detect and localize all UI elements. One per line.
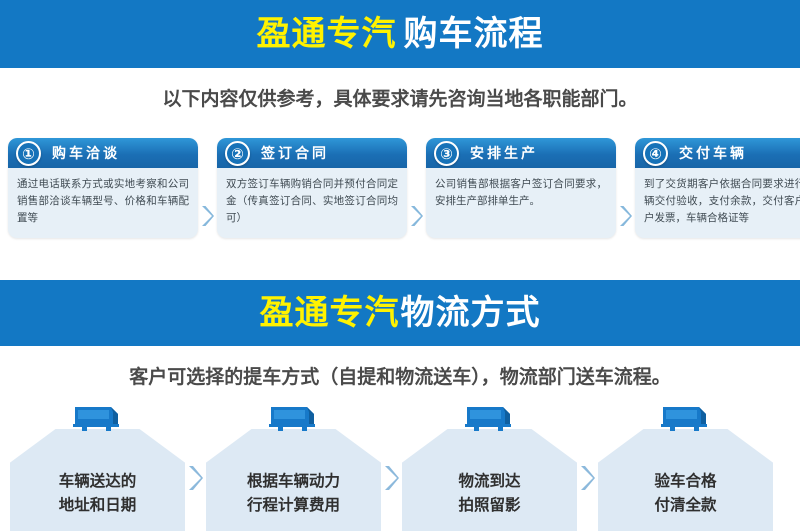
logistics-step-3: 物流到达 拍照留影 — [402, 404, 577, 531]
logistics-step-label-4-line1: 验车合格 — [598, 469, 773, 493]
step-title-3: 安排生产 — [470, 143, 538, 163]
step-number-badge-3: ③ — [434, 141, 459, 166]
logistics-step-1: 车辆送达的 地址和日期 — [10, 404, 185, 531]
chevron-right-icon — [580, 465, 595, 491]
logistics-step-4: 验车合格 付清全款 — [598, 404, 773, 531]
chevron-right-icon — [410, 205, 423, 227]
step-body-2: 双方签订车辆购销合同并预付合同定金（传真签订合同、实地签订合同均可） — [217, 168, 407, 227]
purchase-lead-text: 以下内容仅供参考，具体要求请先咨询当地各职能部门。 — [0, 84, 800, 111]
logistics-banner-title: 盈通专汽物流方式 — [260, 296, 541, 330]
truck-icon — [659, 404, 713, 432]
logistics-step-label-4: 验车合格 付清全款 — [598, 469, 773, 517]
chevron-right-icon — [188, 465, 203, 491]
purchase-step-header-2: ② 签订合同 — [217, 138, 407, 168]
chevron-right-icon — [619, 205, 632, 227]
truck-icon — [267, 404, 321, 432]
purchase-step-card-2: ② 签订合同 双方签订车辆购销合同并预付合同定金（传真签订合同、实地签订合同均可… — [217, 138, 407, 238]
chevron-right-icon — [384, 465, 399, 491]
step-number-badge-1: ① — [16, 141, 41, 166]
step-number-badge-4: ④ — [643, 141, 668, 166]
purchase-step-header-3: ③ 安排生产 — [426, 138, 616, 168]
logistics-step-label-2-line1: 根据车辆动力 — [206, 469, 381, 493]
purchase-step-header-1: ① 购车洽谈 — [8, 138, 198, 168]
step-body-4: 到了交货期客户依据合同要求进行车辆交付验收，支付余款，交付客户上户发票，车辆合格… — [635, 168, 800, 227]
step-number-badge-2: ② — [225, 141, 250, 166]
logistics-lead-text: 客户可选择的提车方式（自提和物流送车），物流部门送车流程。 — [0, 362, 800, 389]
purchase-step-card-3: ③ 安排生产 公司销售部根据客户签订合同要求，安排生产部排单生产。 — [426, 138, 616, 238]
purchase-step-card-4: ④ 交付车辆 到了交货期客户依据合同要求进行车辆交付验收，支付余款，交付客户上户… — [635, 138, 800, 238]
step-title-2: 签订合同 — [261, 143, 329, 163]
logistics-steps-row: 车辆送达的 地址和日期 根据车辆动力 行程计算费用 — [0, 404, 800, 531]
brand-name: 盈通专汽 — [260, 293, 400, 333]
purchase-banner-subject: 购车流程 — [404, 14, 544, 54]
logistics-step-2: 根据车辆动力 行程计算费用 — [206, 404, 381, 531]
chevron-right-icon — [201, 205, 214, 227]
logistics-step-label-1-line1: 车辆送达的 — [10, 469, 185, 493]
logistics-step-label-2-line2: 行程计算费用 — [206, 493, 381, 517]
brand-name: 盈通专汽 — [257, 14, 397, 54]
logistics-section-banner: 盈通专汽物流方式 — [0, 280, 800, 346]
logistics-step-label-3: 物流到达 拍照留影 — [402, 469, 577, 517]
step-title-4: 交付车辆 — [679, 143, 747, 163]
purchase-section-banner: 盈通专汽购车流程 — [0, 0, 800, 68]
purchase-banner-title: 盈通专汽购车流程 — [257, 17, 544, 51]
purchase-step-card-1: ① 购车洽谈 通过电话联系方式或实地考察和公司销售部洽谈车辆型号、价格和车辆配置… — [8, 138, 198, 238]
purchase-step-header-4: ④ 交付车辆 — [635, 138, 800, 168]
step-title-1: 购车洽谈 — [52, 143, 120, 163]
logistics-step-label-4-line2: 付清全款 — [598, 493, 773, 517]
logistics-step-label-1: 车辆送达的 地址和日期 — [10, 469, 185, 517]
logistics-step-label-1-line2: 地址和日期 — [10, 493, 185, 517]
logistics-step-label-3-line1: 物流到达 — [402, 469, 577, 493]
step-body-1: 通过电话联系方式或实地考察和公司销售部洽谈车辆型号、价格和车辆配置等 — [8, 168, 198, 227]
truck-icon — [463, 404, 517, 432]
logistics-step-label-3-line2: 拍照留影 — [402, 493, 577, 517]
truck-icon — [71, 404, 125, 432]
purchase-steps-row: ① 购车洽谈 通过电话联系方式或实地考察和公司销售部洽谈车辆型号、价格和车辆配置… — [0, 138, 800, 246]
logistics-banner-subject: 物流方式 — [401, 293, 541, 333]
logistics-step-label-2: 根据车辆动力 行程计算费用 — [206, 469, 381, 517]
step-body-3: 公司销售部根据客户签订合同要求，安排生产部排单生产。 — [426, 168, 616, 210]
